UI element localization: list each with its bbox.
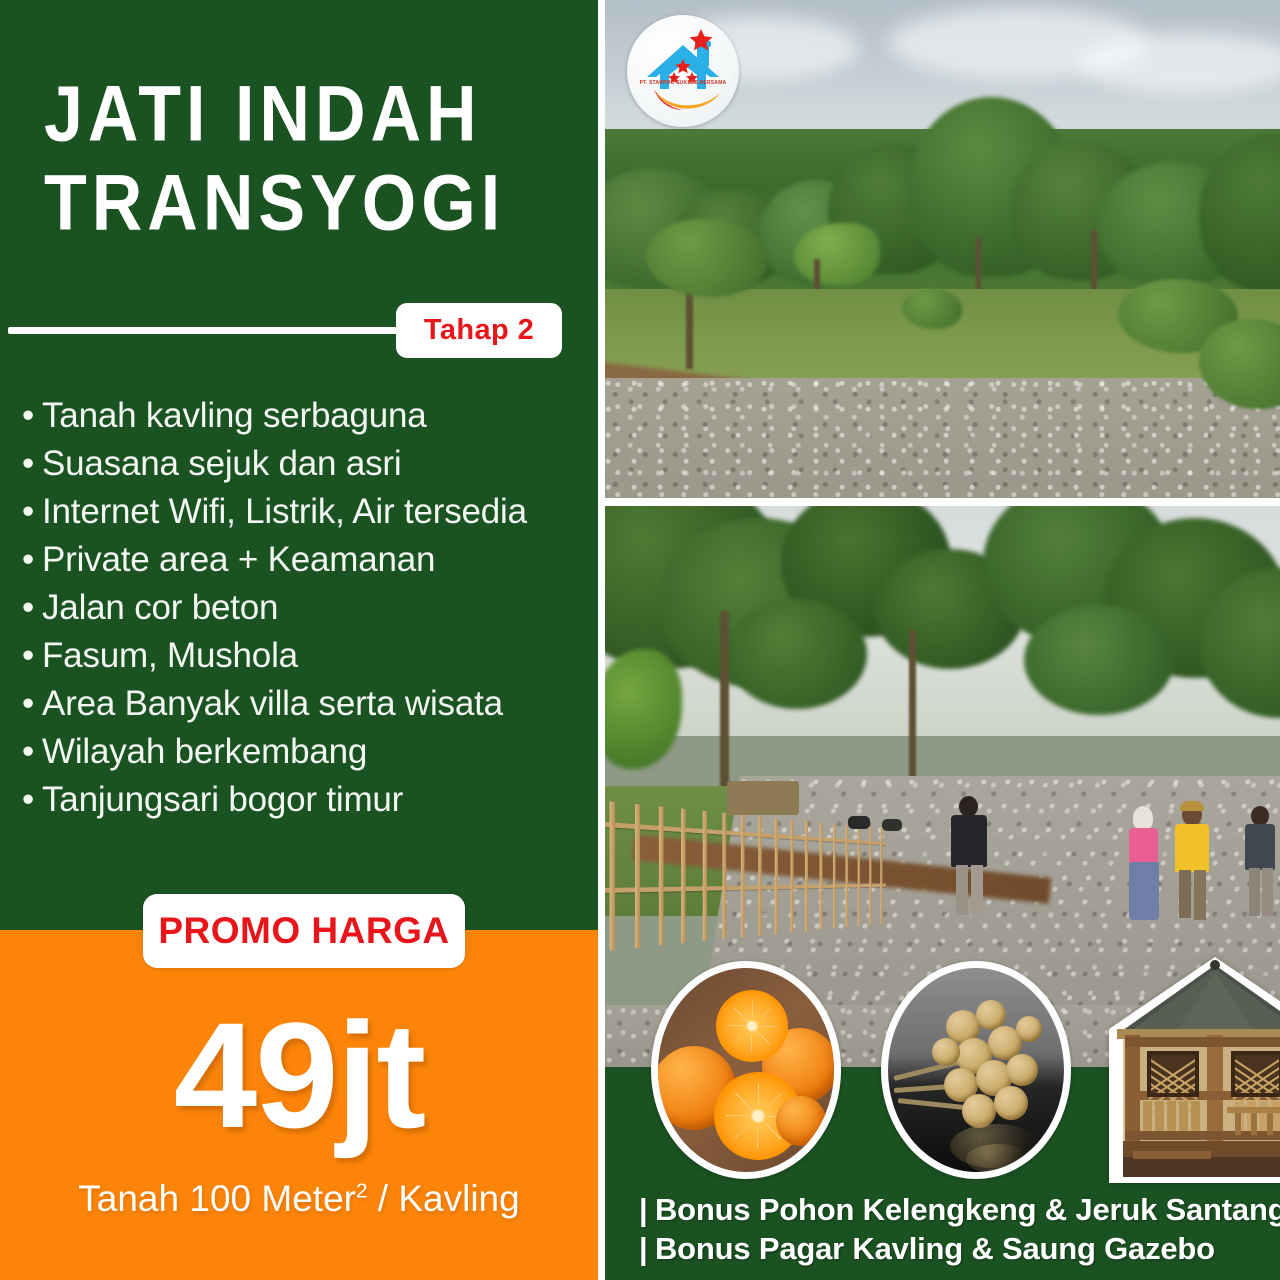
list-item: •Wilayah berkembang	[22, 728, 598, 776]
person-at-right-edge	[1240, 806, 1280, 921]
bullet-icon: •	[22, 584, 42, 632]
price-amount: 49jt	[0, 1000, 598, 1150]
bonus-separator: |	[639, 1190, 655, 1229]
page-title: JATI INDAH TRANSYOGI	[44, 72, 574, 236]
photo-longan	[881, 961, 1071, 1179]
photo-land-plot: PT. STARPRO SUKSES BERSAMA	[605, 0, 1280, 498]
feature-label: Tanjungsari bogor timur	[42, 780, 403, 819]
feature-label: Fasum, Mushola	[42, 636, 298, 675]
price-note-before: Tanah 100 Meter	[78, 1178, 356, 1219]
list-item: •Fasum, Mushola	[22, 632, 598, 680]
house-with-stars-logo-icon	[627, 15, 739, 127]
gravel-road-layer	[605, 378, 1280, 498]
shrub	[902, 289, 962, 329]
feature-label: Wilayah berkembang	[42, 732, 367, 771]
distant-goat	[882, 819, 902, 831]
promo-badge: PROMO HARGA	[143, 894, 465, 968]
bonus-line-1: |Bonus Pohon Kelengkeng & Jeruk Santang	[639, 1190, 1279, 1229]
bonus-label: Bonus Pagar Kavling & Saung Gazebo	[655, 1231, 1215, 1266]
list-item: •Jalan cor beton	[22, 584, 598, 632]
company-logo: PT. STARPRO SUKSES BERSAMA	[627, 15, 739, 127]
list-item: •Suasana sejuk dan asri	[22, 440, 598, 488]
right-photo-column: PT. STARPRO SUKSES BERSAMA	[598, 0, 1280, 1280]
feature-label: Tanah kavling serbaguna	[42, 396, 427, 435]
bullet-icon: •	[22, 392, 42, 440]
title-line-1: JATI INDAH	[44, 72, 574, 157]
price-note-superscript: 2	[356, 1180, 368, 1203]
tree-canopy-layer	[605, 506, 1280, 816]
bonus-section: |Bonus Pohon Kelengkeng & Jeruk Santang …	[605, 1005, 1280, 1280]
bullet-icon: •	[22, 680, 42, 728]
price-note-after: / Kavling	[368, 1178, 520, 1219]
bullet-icon: •	[22, 776, 42, 824]
photo-oranges	[651, 961, 841, 1179]
price-note: Tanah 100 Meter2 / Kavling	[0, 1178, 598, 1220]
divider-line	[8, 327, 428, 334]
stage-badge-label: Tahap 2	[424, 314, 534, 347]
photo-gazebo	[1103, 955, 1280, 1187]
bonus-label: Bonus Pohon Kelengkeng & Jeruk Santang	[655, 1192, 1280, 1227]
distant-goat	[848, 816, 870, 829]
feature-list: •Tanah kavling serbaguna •Suasana sejuk …	[22, 392, 598, 823]
person-walking-away	[943, 796, 995, 926]
logo-company-text: PT. STARPRO SUKSES BERSAMA	[627, 80, 739, 86]
list-item: •Internet Wifi, Listrik, Air tersedia	[22, 488, 598, 536]
bullet-icon: •	[22, 440, 42, 488]
list-item: •Private area + Keamanan	[22, 536, 598, 584]
feature-label: Area Banyak villa serta wisata	[42, 684, 503, 723]
distant-hut	[727, 781, 799, 815]
bonus-text-block: |Bonus Pohon Kelengkeng & Jeruk Santang …	[639, 1190, 1279, 1269]
left-info-panel: JATI INDAH TRANSYOGI Tahap 2 •Tanah kavl…	[0, 0, 598, 1280]
list-item: •Tanjungsari bogor timur	[22, 776, 598, 824]
bullet-icon: •	[22, 488, 42, 536]
feature-label: Private area + Keamanan	[42, 540, 435, 579]
bonus-separator: |	[639, 1229, 655, 1268]
bonus-line-2: |Bonus Pagar Kavling & Saung Gazebo	[639, 1229, 1279, 1268]
bullet-icon: •	[22, 728, 42, 776]
bamboo-gazebo-icon	[1103, 955, 1280, 1187]
feature-label: Internet Wifi, Listrik, Air tersedia	[42, 492, 527, 531]
list-item: •Area Banyak villa serta wisata	[22, 680, 598, 728]
promo-badge-label: PROMO HARGA	[158, 910, 449, 952]
person-in-yellow-shirt	[1169, 804, 1215, 928]
flyer-root: JATI INDAH TRANSYOGI Tahap 2 •Tanah kavl…	[0, 0, 1280, 1280]
bullet-icon: •	[22, 536, 42, 584]
photo-fence-road	[605, 506, 1280, 1006]
divider-row: Tahap 2	[0, 303, 598, 361]
feature-label: Suasana sejuk dan asri	[42, 444, 401, 483]
bullet-icon: •	[22, 632, 42, 680]
person-in-hijab	[1121, 806, 1165, 924]
title-line-2: TRANSYOGI	[44, 161, 574, 246]
feature-label: Jalan cor beton	[42, 588, 278, 627]
stage-badge: Tahap 2	[396, 303, 562, 358]
list-item: •Tanah kavling serbaguna	[22, 392, 598, 440]
